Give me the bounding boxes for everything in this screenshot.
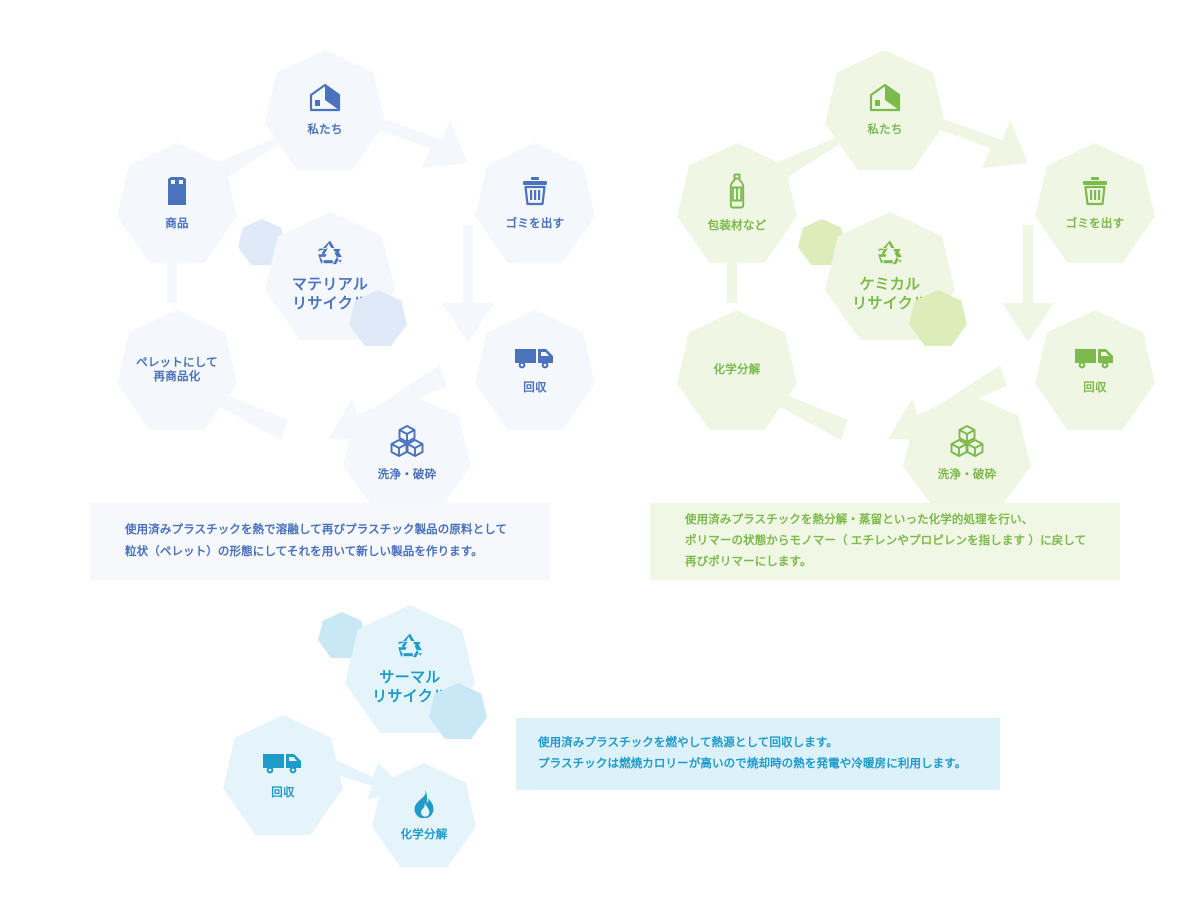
caption-line-1: 使用済みプラスチックを燃やして熱源として回収します。 (538, 737, 838, 749)
caption-line-1: 使用済みプラスチックを熱分解・蒸留といった化学的処理を行い、 (685, 514, 1033, 526)
recycling-infographic-page: 私たち ゴミを出す (0, 0, 1200, 900)
node-label-line2: 再商品化 (154, 370, 201, 384)
diagram-chemical-recycle: 私たち ゴミを出す (650, 20, 1120, 490)
node-label: 洗浄・破砕 (378, 468, 437, 482)
center-label-line1: サーマル (379, 668, 440, 688)
node-us[interactable]: 私たち (825, 50, 945, 170)
caption-line-1: 使用済みプラスチックを熱で溶融して再びプラスチック製品の原料として (125, 524, 507, 536)
node-label: 洗浄・破砕 (938, 468, 997, 482)
caption-thermal-recycle: 使用済みプラスチックを燃やして熱源として回収します。 プラスチックは燃焼カロリー… (516, 718, 1000, 790)
node-dispose[interactable]: ゴミを出す (1035, 143, 1155, 263)
node-collect[interactable]: 回収 (475, 310, 595, 430)
node-label: 回収 (271, 786, 294, 800)
node-collect[interactable]: 回収 (1035, 310, 1155, 430)
center-node-chemical[interactable]: ケミカル リサイクル (825, 212, 955, 340)
truck-icon (1074, 345, 1116, 377)
caption-chemical-recycle: 使用済みプラスチックを熱分解・蒸留といった化学的処理を行い、 ポリマーの状態から… (650, 503, 1120, 580)
shopping-bag-icon (164, 175, 190, 213)
node-pellet[interactable]: ペレットにして 再商品化 (117, 310, 237, 430)
node-label: 化学分解 (401, 828, 448, 842)
trash-bin-icon (1080, 175, 1110, 213)
center-label-line1: ケミカル (860, 275, 921, 295)
truck-icon (514, 345, 556, 377)
node-collect[interactable]: 回収 (223, 715, 343, 835)
house-icon (868, 83, 902, 119)
node-packaging[interactable]: 包装材など (677, 143, 797, 263)
cubes-icon (949, 424, 985, 464)
cubes-icon (389, 424, 425, 464)
node-label-line1: ペレットにして (136, 356, 218, 370)
flame-icon (411, 788, 437, 824)
bottle-icon (726, 173, 748, 215)
node-decompose[interactable]: 化学分解 (372, 763, 476, 867)
node-label: 回収 (523, 381, 546, 395)
diagram-thermal-recycle: サーマル リサイクル 回収 (215, 595, 515, 865)
node-label: 私たち (307, 123, 342, 137)
caption-line-3: 再びポリマーにします。 (685, 556, 812, 568)
caption-line-2: プラスチックは燃焼カロリーが高いので焼却時の熱を発電や冷暖房に利用します。 (538, 758, 966, 770)
trash-bin-icon (520, 175, 550, 213)
truck-icon (262, 750, 304, 782)
recycle-icon (316, 239, 344, 271)
caption-line-2: ポリマーの状態からモノマー（ エチレンやプロピレンを指します ）に戻して (685, 535, 1086, 547)
caption-line-2: 粒状（ペレット）の形態にしてそれを用いて新しい製品を作ります。 (125, 546, 483, 558)
node-product[interactable]: 商品 (117, 143, 237, 263)
node-label: ゴミを出す (1066, 217, 1125, 231)
node-label: ゴミを出す (506, 217, 565, 231)
recycle-icon (396, 632, 424, 664)
node-dispose[interactable]: ゴミを出す (475, 143, 595, 263)
diagram-material-recycle: 私たち ゴミを出す (90, 20, 560, 490)
node-decompose[interactable]: 化学分解 (677, 310, 797, 430)
recycle-icon (876, 239, 904, 271)
node-label: 包装材など (708, 219, 767, 233)
center-label-line1: マテリアル (292, 275, 368, 295)
center-node-material[interactable]: マテリアル リサイクル (265, 212, 395, 340)
node-wash[interactable]: 洗浄・破砕 (903, 393, 1031, 513)
caption-material-recycle: 使用済みプラスチックを熱で溶融して再びプラスチック製品の原料として 粒状（ペレッ… (90, 503, 550, 580)
node-label: 回収 (1083, 381, 1106, 395)
node-label: 私たち (867, 123, 902, 137)
house-icon (308, 83, 342, 119)
node-label: 化学分解 (714, 363, 761, 377)
center-node-thermal[interactable]: サーマル リサイクル (345, 605, 475, 733)
node-label: 商品 (165, 217, 188, 231)
node-us[interactable]: 私たち (265, 50, 385, 170)
node-wash[interactable]: 洗浄・破砕 (343, 393, 471, 513)
